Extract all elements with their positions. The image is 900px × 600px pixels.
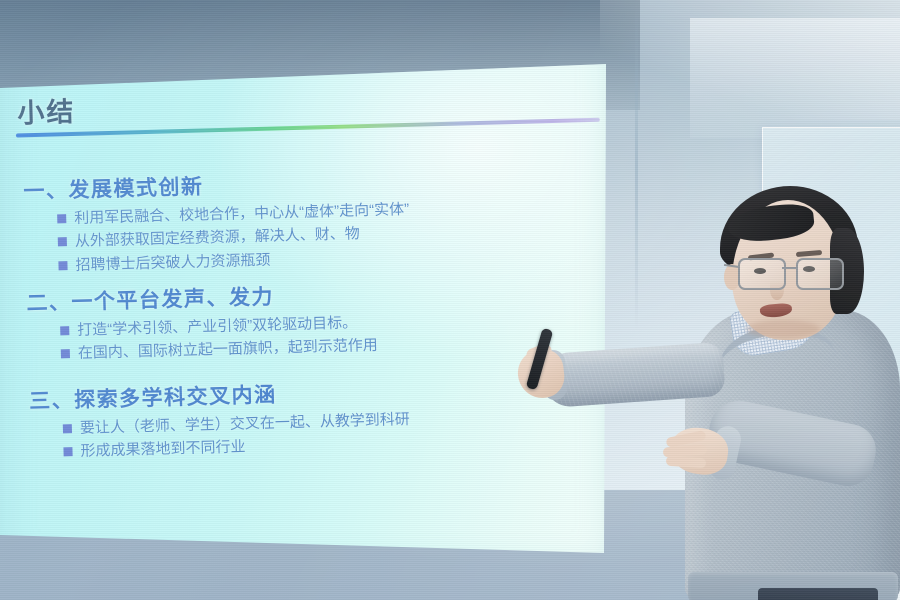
eyeglass-bridge (782, 267, 796, 269)
presenter (520, 180, 900, 600)
trousers (758, 588, 878, 600)
eyeglass-lens-right (796, 258, 844, 290)
eyeglass-lens-left (738, 258, 786, 290)
chin-shadow (746, 320, 820, 338)
photo-canvas: 小结 一、发展模式创新利用军民融合、校地合作，中心从“虚体”走向“实体”从外部获… (0, 0, 900, 600)
eyeglasses (738, 258, 850, 288)
finger (666, 456, 707, 469)
glass-whiteboard-panel-upper (690, 18, 900, 138)
